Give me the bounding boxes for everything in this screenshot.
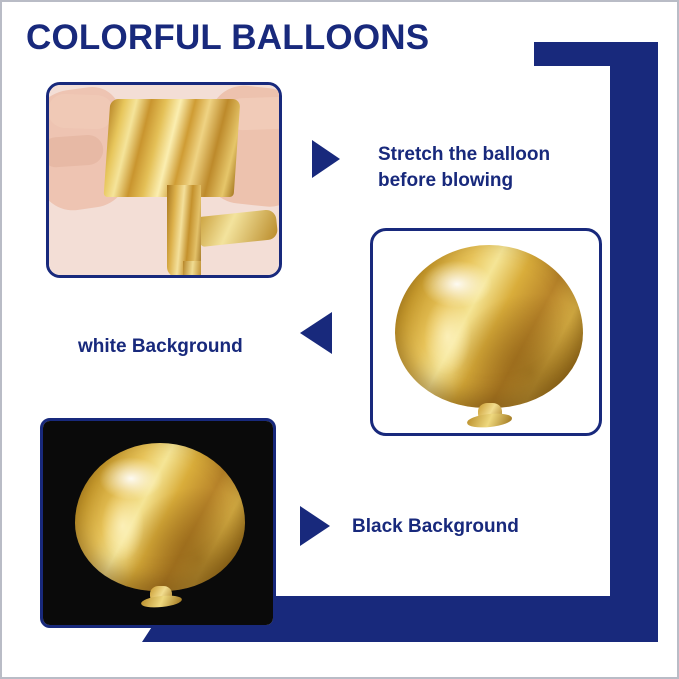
caption-stretch-line2: before blowing (378, 168, 608, 194)
balloon-on-white-photo (370, 228, 602, 436)
left-finger-upper (47, 93, 114, 129)
balloon-knot (478, 403, 502, 424)
balloon-body (395, 245, 583, 408)
balloon-on-black-image (43, 421, 273, 625)
balloon-on-black-photo (40, 418, 276, 628)
balloon-on-white-image (373, 231, 599, 433)
gold-balloon (75, 443, 245, 615)
blue-accent-band-right (610, 42, 658, 642)
caption-white-background: white Background (78, 334, 243, 360)
gold-balloon (395, 245, 583, 435)
caption-black-background: Black Background (352, 514, 519, 540)
stretched-balloon-tip (183, 261, 201, 278)
stretching-balloon-photo (46, 82, 282, 278)
arrow-left-icon (300, 312, 332, 354)
caption-stretch-line1: Stretch the balloon (378, 142, 608, 168)
stretching-balloon-image (49, 85, 279, 275)
page-title: COLORFUL BALLOONS (26, 18, 429, 58)
balloon-body (75, 443, 245, 591)
balloon-knot (150, 586, 172, 605)
infographic-page: COLORFUL BALLOONS Stretch the balloon be… (0, 0, 679, 679)
caption-stretch: Stretch the balloon before blowing (378, 142, 608, 193)
arrow-right-icon (312, 140, 340, 178)
arrow-right-icon (300, 506, 330, 546)
stretched-balloon-body (104, 99, 241, 197)
left-finger-lower (46, 134, 104, 168)
